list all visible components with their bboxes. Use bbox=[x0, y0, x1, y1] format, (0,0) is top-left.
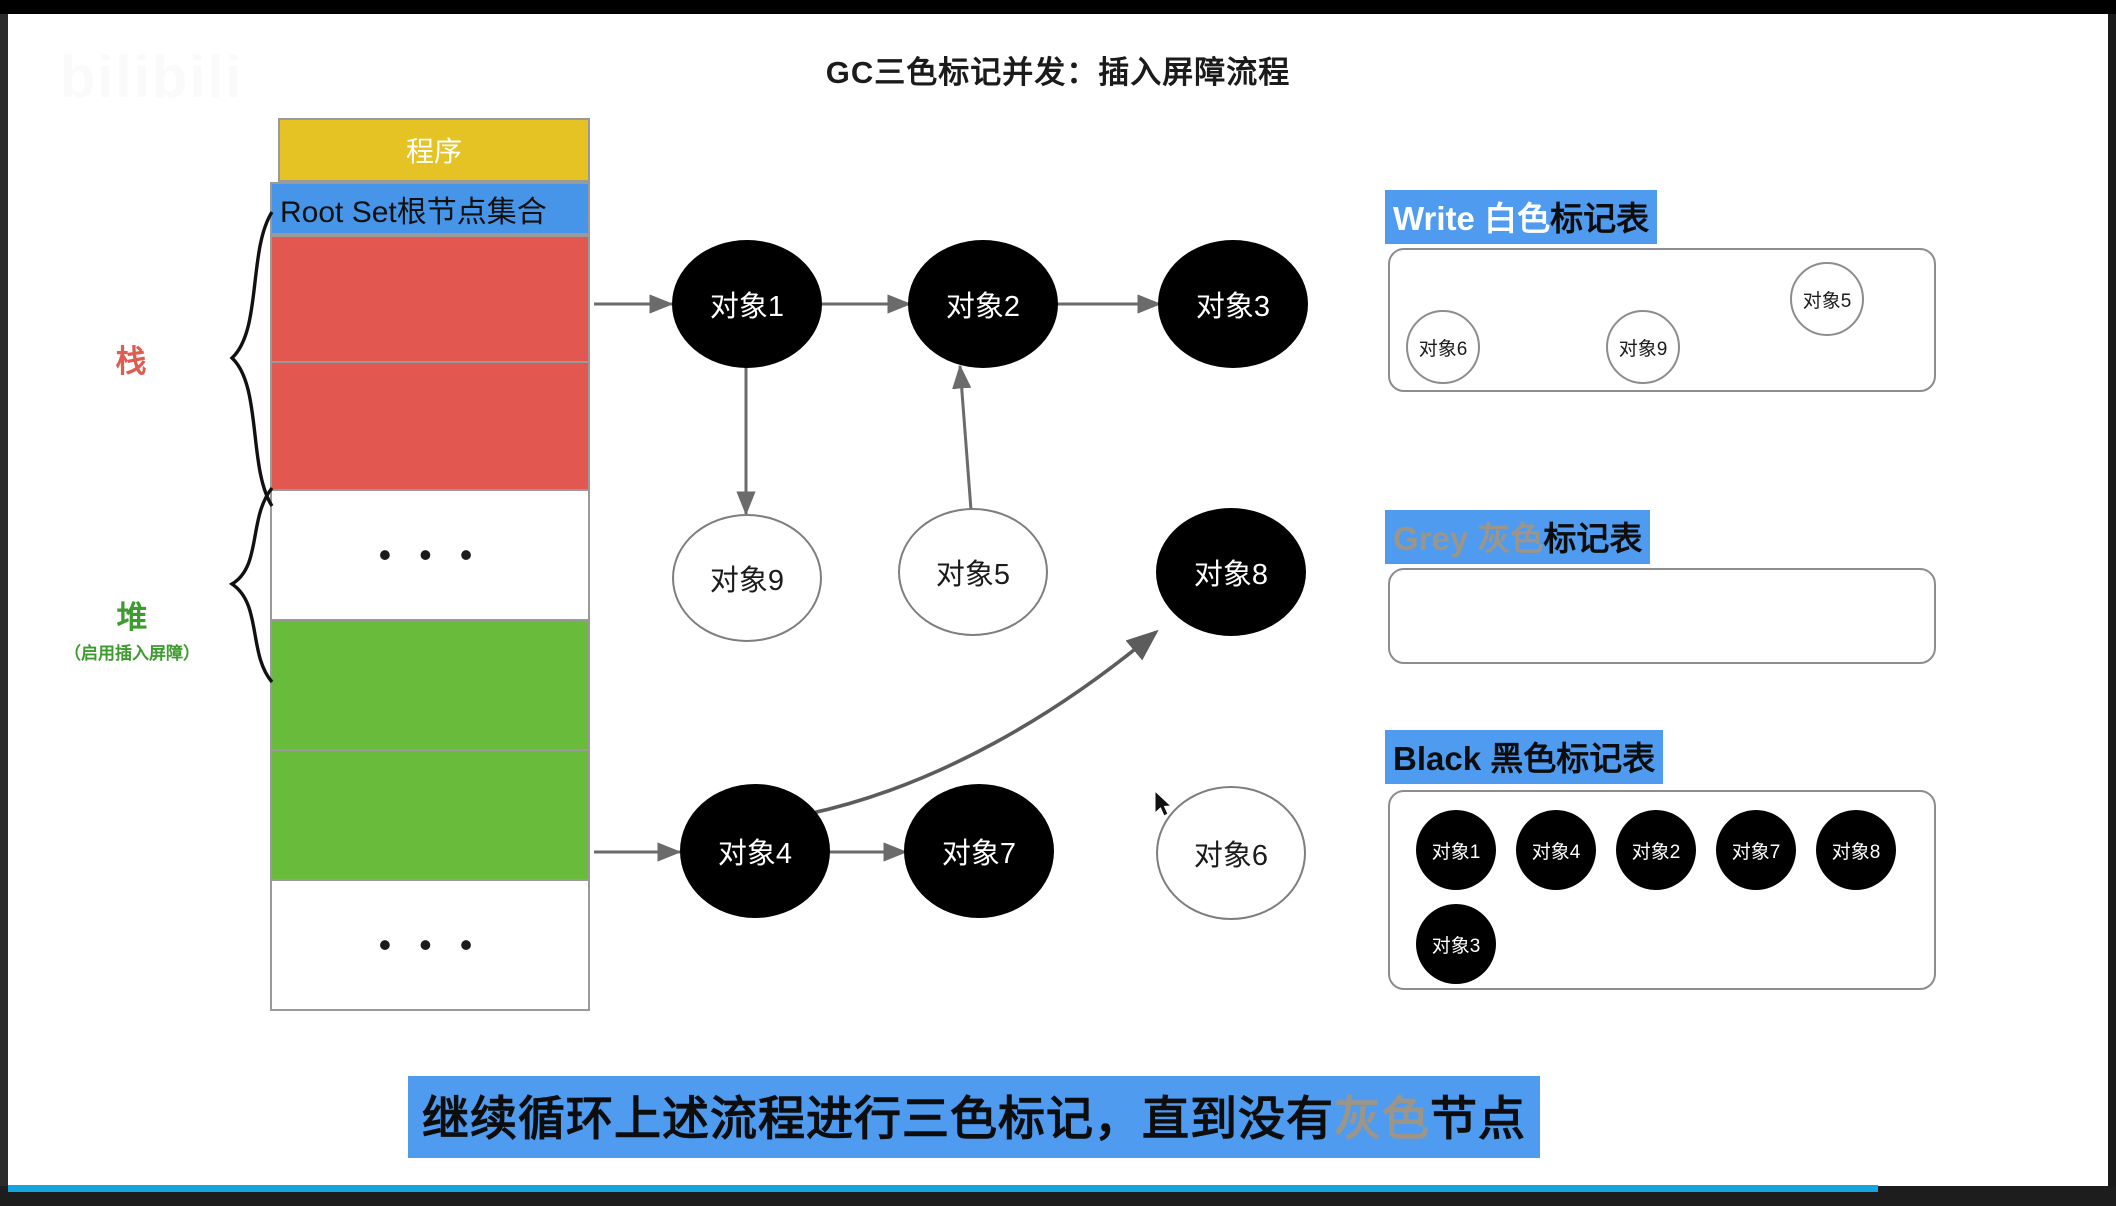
node-label: 对象5 bbox=[936, 551, 1010, 593]
node-label: 对象4 bbox=[718, 830, 792, 872]
node-label: 对象7 bbox=[942, 830, 1016, 872]
video-player-stage: bilibili GC三色标记并发：插入屏障流程 程序 Root Set根节点集… bbox=[0, 0, 2116, 1206]
chip-label: 对象1 bbox=[1432, 837, 1481, 864]
graph-node-object8[interactable]: 对象8 bbox=[1156, 508, 1306, 636]
mouse-cursor bbox=[1154, 790, 1176, 822]
black-table-chip-object1[interactable]: 对象1 bbox=[1416, 810, 1496, 890]
player-left-letterbox bbox=[0, 0, 8, 1206]
caption-after: 节点 bbox=[1430, 1092, 1526, 1145]
graph-node-object5[interactable]: 对象5 bbox=[898, 508, 1048, 636]
graph-node-object4[interactable]: 对象4 bbox=[680, 784, 830, 918]
chip-label: 对象4 bbox=[1532, 837, 1581, 864]
bilibili-watermark: bilibili bbox=[60, 44, 244, 111]
black-table-chip-object3[interactable]: 对象3 bbox=[1416, 904, 1496, 984]
graph-node-object7[interactable]: 对象7 bbox=[904, 784, 1054, 918]
grey-table-header: Grey 灰色标记表 bbox=[1385, 510, 1650, 564]
white-table-chip-object6[interactable]: 对象6 bbox=[1406, 310, 1480, 384]
graph-node-object9[interactable]: 对象9 bbox=[672, 514, 822, 642]
chip-label: 对象3 bbox=[1432, 931, 1481, 958]
node-label: 对象2 bbox=[946, 283, 1020, 325]
graph-node-object1[interactable]: 对象1 bbox=[672, 240, 822, 368]
black-table-header-colored: Black 黑色 bbox=[1393, 740, 1556, 777]
chip-label: 对象8 bbox=[1832, 837, 1881, 864]
node-label: 对象6 bbox=[1194, 832, 1268, 874]
caption-highlight: 灰色 bbox=[1334, 1092, 1430, 1145]
grey-table-header-colored: Grey 灰色 bbox=[1393, 520, 1543, 557]
graph-node-object3[interactable]: 对象3 bbox=[1158, 240, 1308, 368]
white-table-chip-object9[interactable]: 对象9 bbox=[1606, 310, 1680, 384]
video-progress-bar[interactable] bbox=[8, 1185, 1878, 1192]
black-table-chip-object7[interactable]: 对象7 bbox=[1716, 810, 1796, 890]
white-table-header-plain: 标记表 bbox=[1550, 200, 1649, 237]
chip-label: 对象2 bbox=[1632, 837, 1681, 864]
black-table-chip-object4[interactable]: 对象4 bbox=[1516, 810, 1596, 890]
white-table-chip-object5[interactable]: 对象5 bbox=[1790, 262, 1864, 336]
chip-label: 对象6 bbox=[1419, 334, 1468, 361]
node-label: 对象1 bbox=[710, 283, 784, 325]
grey-table-header-plain: 标记表 bbox=[1543, 520, 1642, 557]
black-table-header-plain: 标记表 bbox=[1556, 740, 1655, 777]
slide-caption: 继续循环上述流程进行三色标记，直到没有灰色节点 bbox=[408, 1076, 1540, 1158]
white-table-header: Write 白色标记表 bbox=[1385, 190, 1657, 244]
grey-table-box bbox=[1388, 568, 1936, 664]
chip-label: 对象9 bbox=[1619, 334, 1668, 361]
graph-node-object2[interactable]: 对象2 bbox=[908, 240, 1058, 368]
caption-before: 继续循环上述流程进行三色标记，直到没有 bbox=[422, 1092, 1334, 1145]
player-top-letterbox bbox=[0, 0, 2116, 14]
black-table-chip-object2[interactable]: 对象2 bbox=[1616, 810, 1696, 890]
chip-label: 对象7 bbox=[1732, 837, 1781, 864]
node-label: 对象9 bbox=[710, 557, 784, 599]
black-table-chip-object8[interactable]: 对象8 bbox=[1816, 810, 1896, 890]
chip-label: 对象5 bbox=[1803, 286, 1852, 313]
white-table-header-colored: Write 白色 bbox=[1393, 200, 1550, 237]
node-label: 对象8 bbox=[1194, 551, 1268, 593]
graph-node-object6[interactable]: 对象6 bbox=[1156, 786, 1306, 920]
node-label: 对象3 bbox=[1196, 283, 1270, 325]
slide-canvas: bilibili GC三色标记并发：插入屏障流程 程序 Root Set根节点集… bbox=[8, 14, 2108, 1186]
black-table-header: Black 黑色标记表 bbox=[1385, 730, 1663, 784]
